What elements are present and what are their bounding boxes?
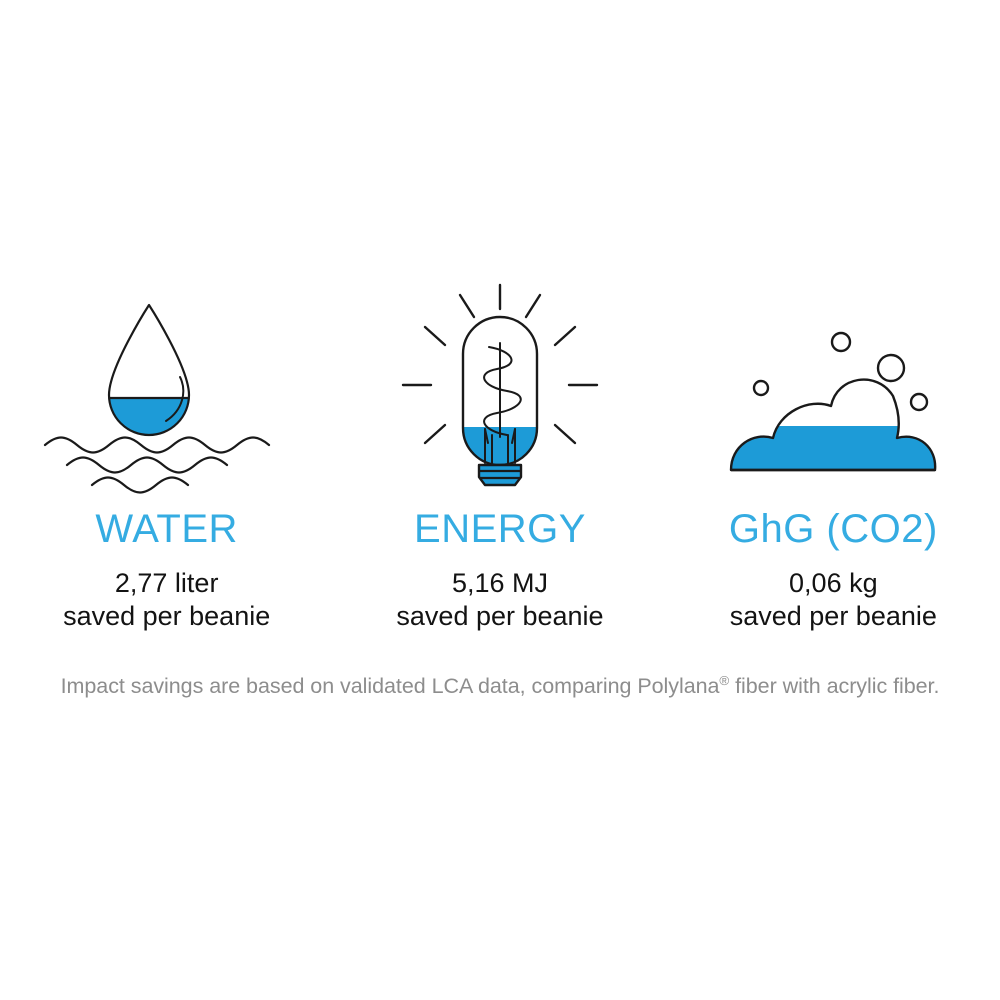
metric-column-water: WATER 2,77 liter saved per beanie — [0, 270, 333, 633]
metric-sub-ghg: saved per beanie — [730, 600, 937, 633]
footnote-disclaimer: Impact savings are based on validated LC… — [0, 672, 1000, 700]
metric-value-water: 2,77 liter — [115, 567, 219, 600]
light-bulb-icon — [333, 270, 666, 495]
metric-sub-energy: saved per beanie — [396, 600, 603, 633]
metric-heading-ghg: GhG (CO2) — [729, 507, 938, 551]
metric-sub-water: saved per beanie — [63, 600, 270, 633]
metrics-columns: WATER 2,77 liter saved per beanie — [0, 270, 1000, 650]
registered-trademark-symbol: ® — [719, 673, 729, 688]
metric-value-energy: 5,16 MJ — [452, 567, 548, 600]
footnote-text-after: fiber with acrylic fiber. — [729, 674, 939, 698]
impact-savings-infographic: WATER 2,77 liter saved per beanie — [0, 0, 1000, 1000]
metric-heading-energy: ENERGY — [414, 507, 586, 551]
water-drop-icon — [0, 270, 333, 495]
co2-cloud-icon — [667, 270, 1000, 495]
metric-column-energy: ENERGY 5,16 MJ saved per beanie — [333, 270, 666, 633]
metric-column-ghg: GhG (CO2) 0,06 kg saved per beanie — [667, 270, 1000, 633]
footnote-text-before: Impact savings are based on validated LC… — [61, 674, 720, 698]
metric-value-ghg: 0,06 kg — [789, 567, 878, 600]
metric-heading-water: WATER — [95, 507, 237, 551]
